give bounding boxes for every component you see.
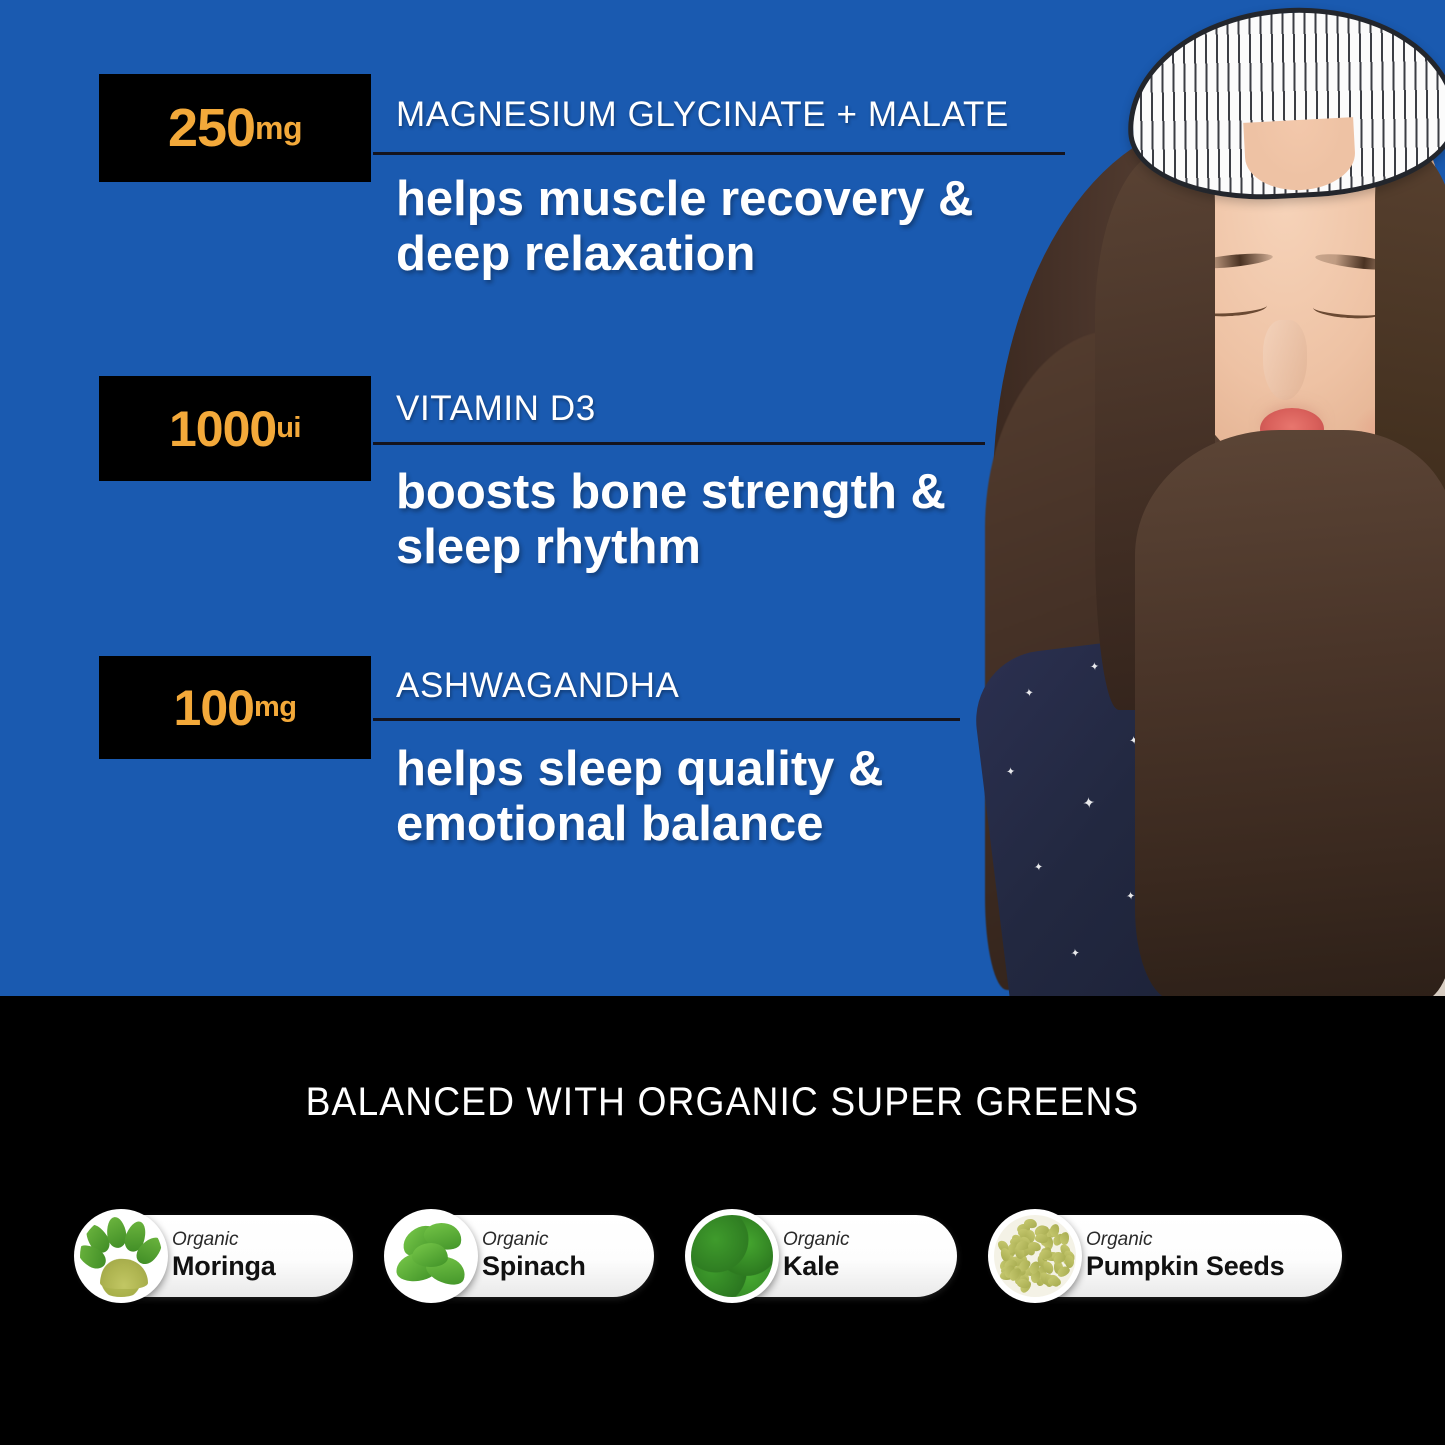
greens-headline: BALANCED WITH ORGANIC SUPER GREENS <box>51 1080 1395 1125</box>
dose-amount: 250 <box>168 97 255 159</box>
divider-magnesium <box>373 152 1065 155</box>
greens-badge-kale: Organic Kale <box>687 1215 957 1297</box>
model-photo: ✦ ✦ ✦ ✦ ✦ ✦ ✦ ✦ ✦ ✦ ✦ <box>975 0 1445 996</box>
badge-qualifier: Organic <box>172 1230 276 1251</box>
kale-leaves-icon <box>685 1209 779 1303</box>
dose-unit: mg <box>255 110 302 147</box>
dose-unit: ui <box>276 412 301 445</box>
ingredients-panel: ✦ ✦ ✦ ✦ ✦ ✦ ✦ ✦ ✦ ✦ ✦ <box>0 0 1445 996</box>
divider-ashwagandha <box>373 718 960 721</box>
dose-amount: 100 <box>174 679 254 737</box>
badge-name: Spinach <box>482 1251 586 1281</box>
nutrient-description-magnesium: helps muscle recovery & deep relaxation <box>396 172 1016 282</box>
badge-qualifier: Organic <box>1086 1230 1284 1251</box>
badge-name: Kale <box>783 1251 850 1281</box>
product-infographic: ✦ ✦ ✦ ✦ ✦ ✦ ✦ ✦ ✦ ✦ ✦ <box>0 0 1445 1445</box>
pumpkin-seeds-icon <box>988 1209 1082 1303</box>
moringa-leaf-powder-icon <box>74 1209 168 1303</box>
dose-badge-ashwagandha: 100mg <box>99 656 371 759</box>
greens-badge-pumpkin-seeds: Organic Pumpkin Seeds <box>990 1215 1342 1297</box>
badge-qualifier: Organic <box>482 1230 586 1251</box>
nutrient-name-ashwagandha: ASHWAGANDHA <box>396 666 679 706</box>
dose-badge-magnesium: 250mg <box>99 74 371 182</box>
nutrient-description-vitamin-d3: boosts bone strength & sleep rhythm <box>396 465 996 575</box>
spinach-leaves-icon <box>384 1209 478 1303</box>
nutrient-description-ashwagandha: helps sleep quality & emotional balance <box>396 742 976 852</box>
nose <box>1263 320 1307 400</box>
greens-badge-spinach: Organic Spinach <box>386 1215 654 1297</box>
badge-qualifier: Organic <box>783 1230 850 1251</box>
hair-drape <box>1135 430 1445 996</box>
greens-badge-moringa: Organic Moringa <box>76 1215 353 1297</box>
divider-vitamin-d3 <box>373 442 985 445</box>
dose-badge-vitamin-d3: 1000ui <box>99 376 371 481</box>
badge-name: Pumpkin Seeds <box>1086 1251 1284 1281</box>
nutrient-name-magnesium: MAGNESIUM GLYCINATE + MALATE <box>396 95 1009 135</box>
badge-name: Moringa <box>172 1251 276 1281</box>
nutrient-name-vitamin-d3: VITAMIN D3 <box>396 389 596 429</box>
dose-unit: mg <box>254 691 297 724</box>
dose-amount: 1000 <box>169 400 276 458</box>
greens-badge-row: Organic Moringa Organic Spinach <box>76 1209 1366 1303</box>
